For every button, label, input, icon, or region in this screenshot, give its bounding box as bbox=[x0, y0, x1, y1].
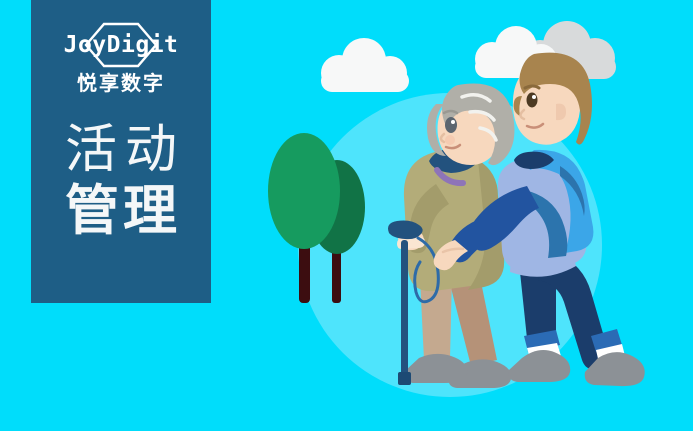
promo-banner: JoyDigit 悦享数字 活动 管理 bbox=[0, 0, 693, 431]
cane-tip bbox=[398, 372, 411, 385]
woman-eye-highlight bbox=[451, 120, 455, 124]
logo-wordmark: JoyDigit bbox=[64, 34, 179, 57]
woman-eye bbox=[445, 117, 457, 133]
man-eye bbox=[527, 93, 538, 108]
woman-cheek bbox=[445, 135, 455, 145]
brand-block: JoyDigit 悦享数字 bbox=[46, 22, 196, 94]
logo-mark: JoyDigit bbox=[46, 22, 196, 68]
brand-name-cn: 悦享数字 bbox=[77, 74, 165, 94]
headline: 活动 管理 bbox=[57, 124, 185, 238]
cane-shaft bbox=[401, 240, 408, 385]
man-eye-highlight bbox=[532, 95, 536, 99]
info-panel: JoyDigit 悦享数字 活动 管理 bbox=[31, 0, 211, 303]
headline-line-2: 管理 bbox=[61, 184, 181, 238]
headline-line-1: 活动 bbox=[57, 124, 185, 176]
cloud-left bbox=[321, 38, 409, 92]
